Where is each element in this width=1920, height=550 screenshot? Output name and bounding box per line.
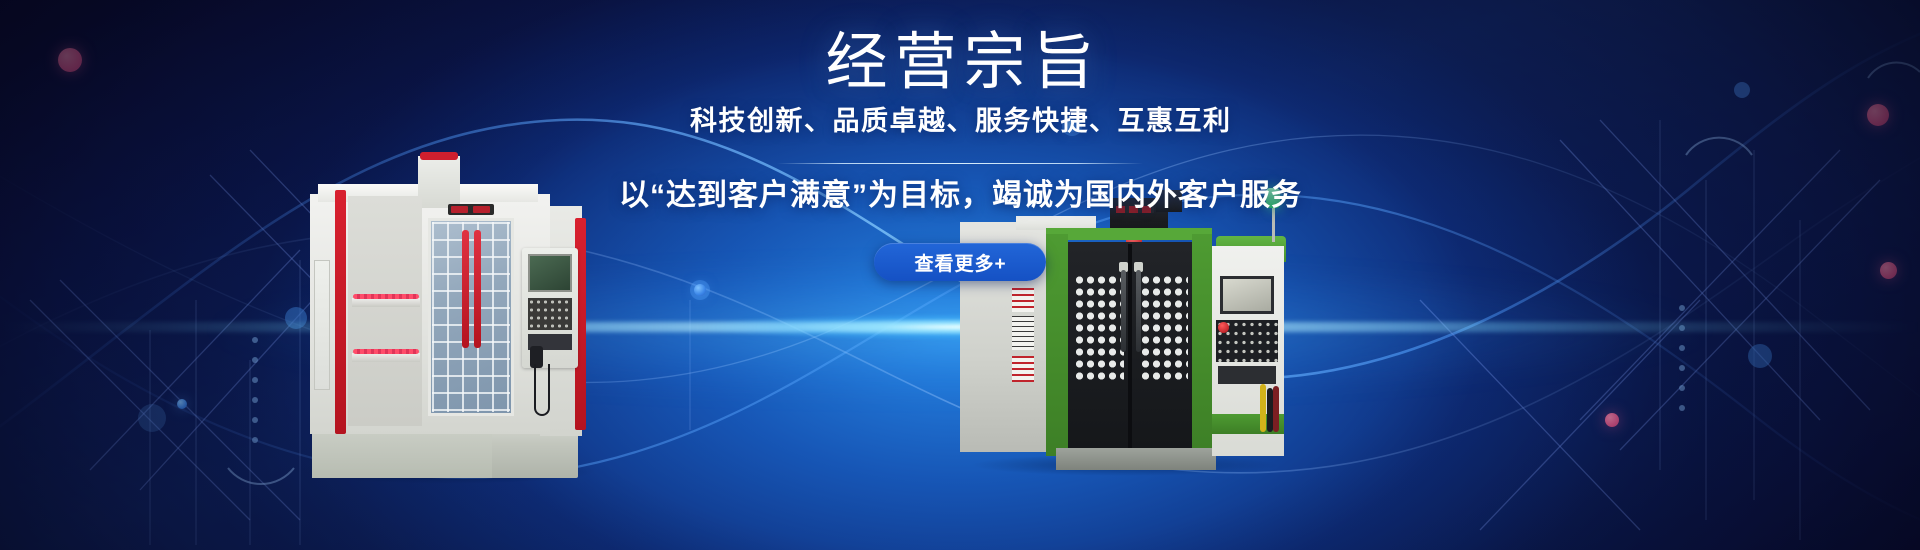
banner-content: 经营宗旨 科技创新、品质卓越、服务快捷、互惠互利 以“达到客户满意”为目标，竭诚… <box>0 0 1920 550</box>
promo-banner: 经营宗旨 科技创新、品质卓越、服务快捷、互惠互利 以“达到客户满意”为目标，竭诚… <box>0 0 1920 550</box>
view-more-button[interactable]: 查看更多+ <box>874 243 1046 281</box>
banner-subtitle: 科技创新、品质卓越、服务快捷、互惠互利 <box>0 104 1920 138</box>
cta-row: 查看更多+ <box>0 243 1920 281</box>
text-divider <box>777 163 1143 164</box>
banner-tagline: 以“达到客户满意”为目标，竭诚为国内外客户服务 <box>0 176 1920 216</box>
divider-wrapper <box>0 163 1920 164</box>
banner-heading: 经营宗旨 <box>0 28 1920 98</box>
